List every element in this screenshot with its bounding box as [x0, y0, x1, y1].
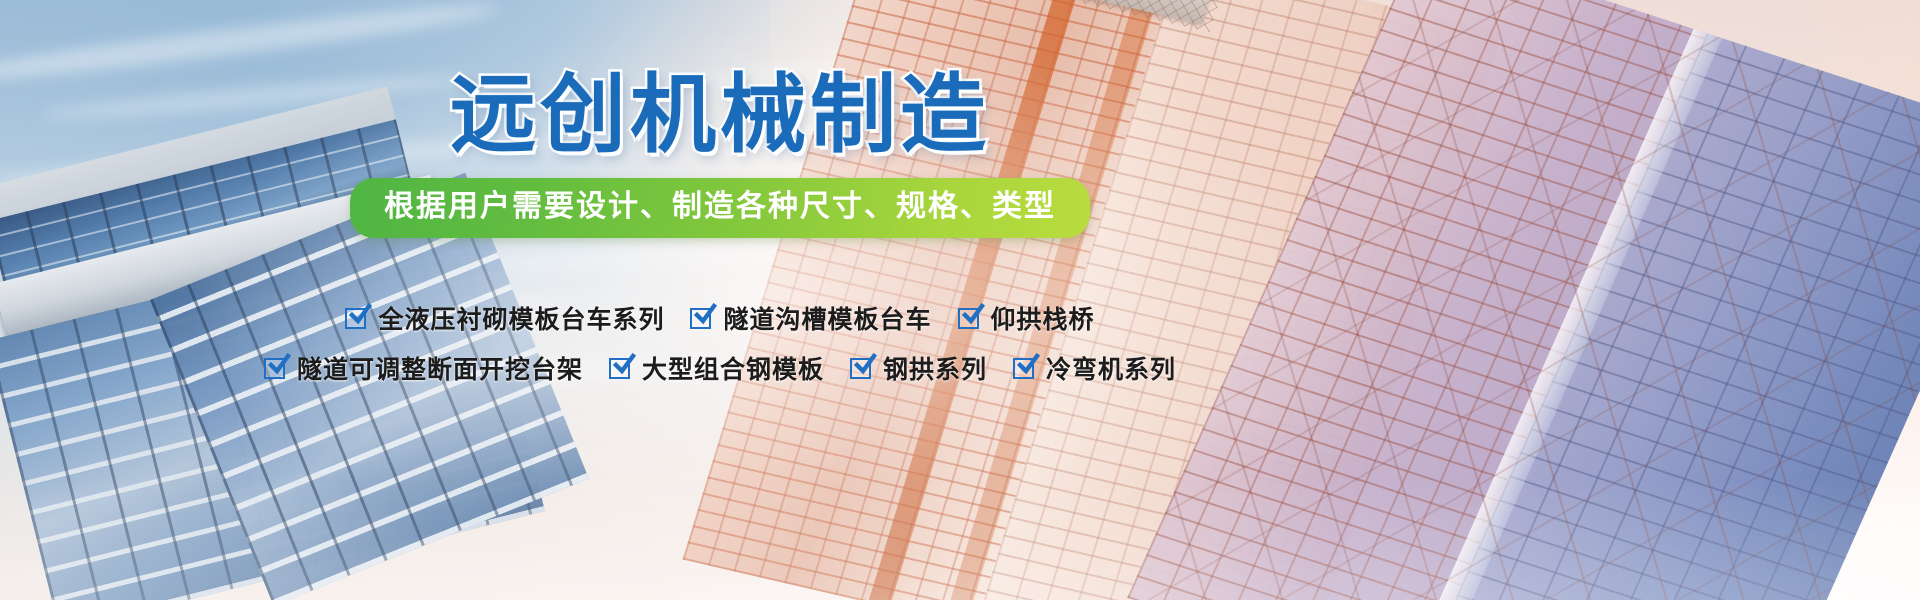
feature-item-label: 钢拱系列	[883, 350, 987, 386]
checkbox-checked-icon[interactable]	[690, 306, 714, 330]
checkbox-checked-icon[interactable]	[1013, 356, 1037, 380]
banner-title: 远创机械制造	[0, 72, 1440, 158]
feature-item[interactable]: 全液压衬砌模板台车系列	[345, 300, 664, 336]
feature-list: 全液压衬砌模板台车系列隧道沟槽模板台车仰拱栈桥隧道可调整断面开挖台架大型组合钢模…	[0, 300, 1440, 400]
feature-item[interactable]: 隧道沟槽模板台车	[690, 300, 931, 336]
feature-item[interactable]: 冷弯机系列	[1013, 350, 1176, 386]
feature-item-label: 大型组合钢模板	[642, 350, 824, 386]
feature-row: 隧道可调整断面开挖台架大型组合钢模板钢拱系列冷弯机系列	[0, 350, 1440, 386]
banner-content: 远创机械制造 根据用户需要设计、制造各种尺寸、规格、类型 全液压衬砌模板台车系列…	[0, 0, 1920, 600]
feature-item-label: 全液压衬砌模板台车系列	[378, 300, 664, 336]
banner-subtitle-pill: 根据用户需要设计、制造各种尺寸、规格、类型	[350, 178, 1090, 238]
banner-subtitle-container: 根据用户需要设计、制造各种尺寸、规格、类型	[0, 178, 1440, 238]
feature-item[interactable]: 仰拱栈桥	[958, 300, 1095, 336]
feature-item-label: 仰拱栈桥	[991, 300, 1095, 336]
checkbox-checked-icon[interactable]	[345, 306, 369, 330]
feature-item-label: 隧道可调整断面开挖台架	[297, 350, 583, 386]
checkbox-checked-icon[interactable]	[850, 356, 874, 380]
feature-item[interactable]: 隧道可调整断面开挖台架	[264, 350, 583, 386]
checkbox-checked-icon[interactable]	[609, 356, 633, 380]
feature-item-label: 隧道沟槽模板台车	[723, 300, 931, 336]
checkbox-checked-icon[interactable]	[264, 356, 288, 380]
feature-row: 全液压衬砌模板台车系列隧道沟槽模板台车仰拱栈桥	[0, 300, 1440, 336]
feature-item-label: 冷弯机系列	[1046, 350, 1176, 386]
checkbox-checked-icon[interactable]	[958, 306, 982, 330]
feature-item[interactable]: 大型组合钢模板	[609, 350, 824, 386]
hero-banner: 远创机械制造 根据用户需要设计、制造各种尺寸、规格、类型 全液压衬砌模板台车系列…	[0, 0, 1920, 600]
feature-item[interactable]: 钢拱系列	[850, 350, 987, 386]
